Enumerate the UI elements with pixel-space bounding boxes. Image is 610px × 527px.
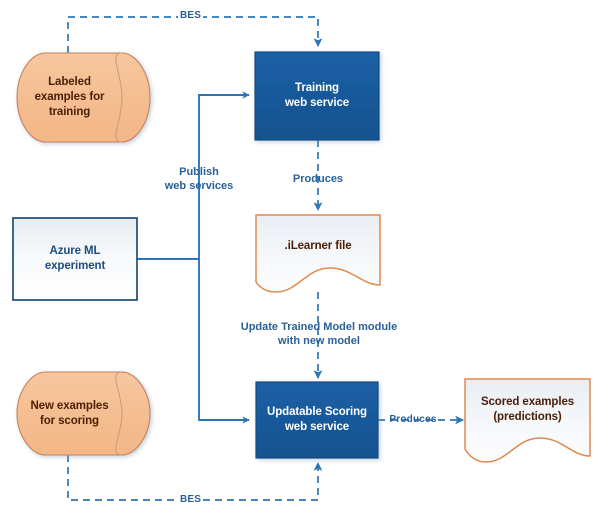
node-hit-updatable-scoring-web-service[interactable] <box>256 382 378 458</box>
node-hit-ilearner-file[interactable] <box>256 215 380 292</box>
node-hit-scored-examples[interactable] <box>465 379 590 462</box>
diagram-canvas: Labeled examples for training Training w… <box>0 0 610 527</box>
node-hit-azure-ml-experiment[interactable] <box>13 218 137 300</box>
edge-publish-scoring <box>199 259 249 420</box>
edge-publish-web-services <box>137 95 249 259</box>
node-hit-labeled-examples[interactable] <box>17 53 150 142</box>
node-hit-new-examples[interactable] <box>17 372 150 455</box>
edge-bes-scoring <box>68 455 318 500</box>
node-hit-training-web-service[interactable] <box>255 52 379 140</box>
edge-bes-training <box>68 17 318 53</box>
